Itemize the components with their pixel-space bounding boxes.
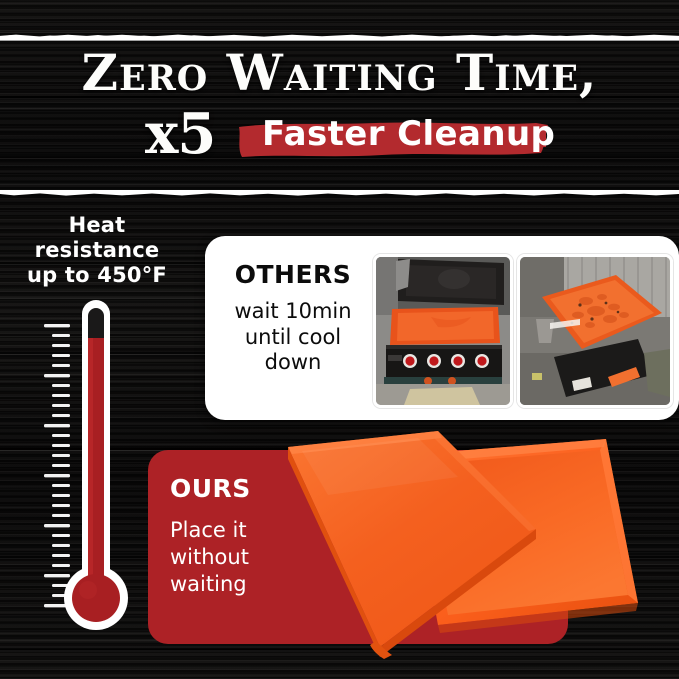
- others-body-line-2: until cool: [219, 325, 367, 351]
- subtitle-label: Faster Cleanup: [262, 116, 555, 153]
- product-silicone-mats: [288, 425, 679, 679]
- others-photo-mat-outdoors: [517, 254, 673, 408]
- others-title: OTHERS: [219, 262, 367, 287]
- others-card: OTHERS wait 10min until cool down: [205, 236, 679, 420]
- multiplier-label: x5: [145, 106, 215, 162]
- others-photo-griddle: [373, 254, 513, 408]
- heat-label-line-1: Heat: [4, 213, 190, 238]
- subtitle-row: x5 Faster Cleanup: [0, 110, 679, 172]
- others-body: wait 10min until cool down: [219, 299, 367, 376]
- torn-edge-bottom: [0, 190, 679, 200]
- others-text-block: OTHERS wait 10min until cool down: [219, 262, 367, 376]
- page-title: Zero Waiting Time,: [0, 48, 679, 98]
- others-body-line-1: wait 10min: [219, 299, 367, 325]
- header-banner: Zero Waiting Time, x5 Faster Cleanup: [0, 38, 679, 194]
- infographic-canvas: Zero Waiting Time, x5 Faster Cleanup Hea…: [0, 0, 679, 679]
- heat-resistance-label: Heat resistance up to 450°F: [4, 213, 190, 287]
- others-body-line-3: down: [219, 350, 367, 376]
- thermometer-icon: [30, 298, 160, 648]
- heat-label-line-2: resistance: [4, 238, 190, 263]
- heat-label-line-3: up to 450°F: [4, 263, 190, 288]
